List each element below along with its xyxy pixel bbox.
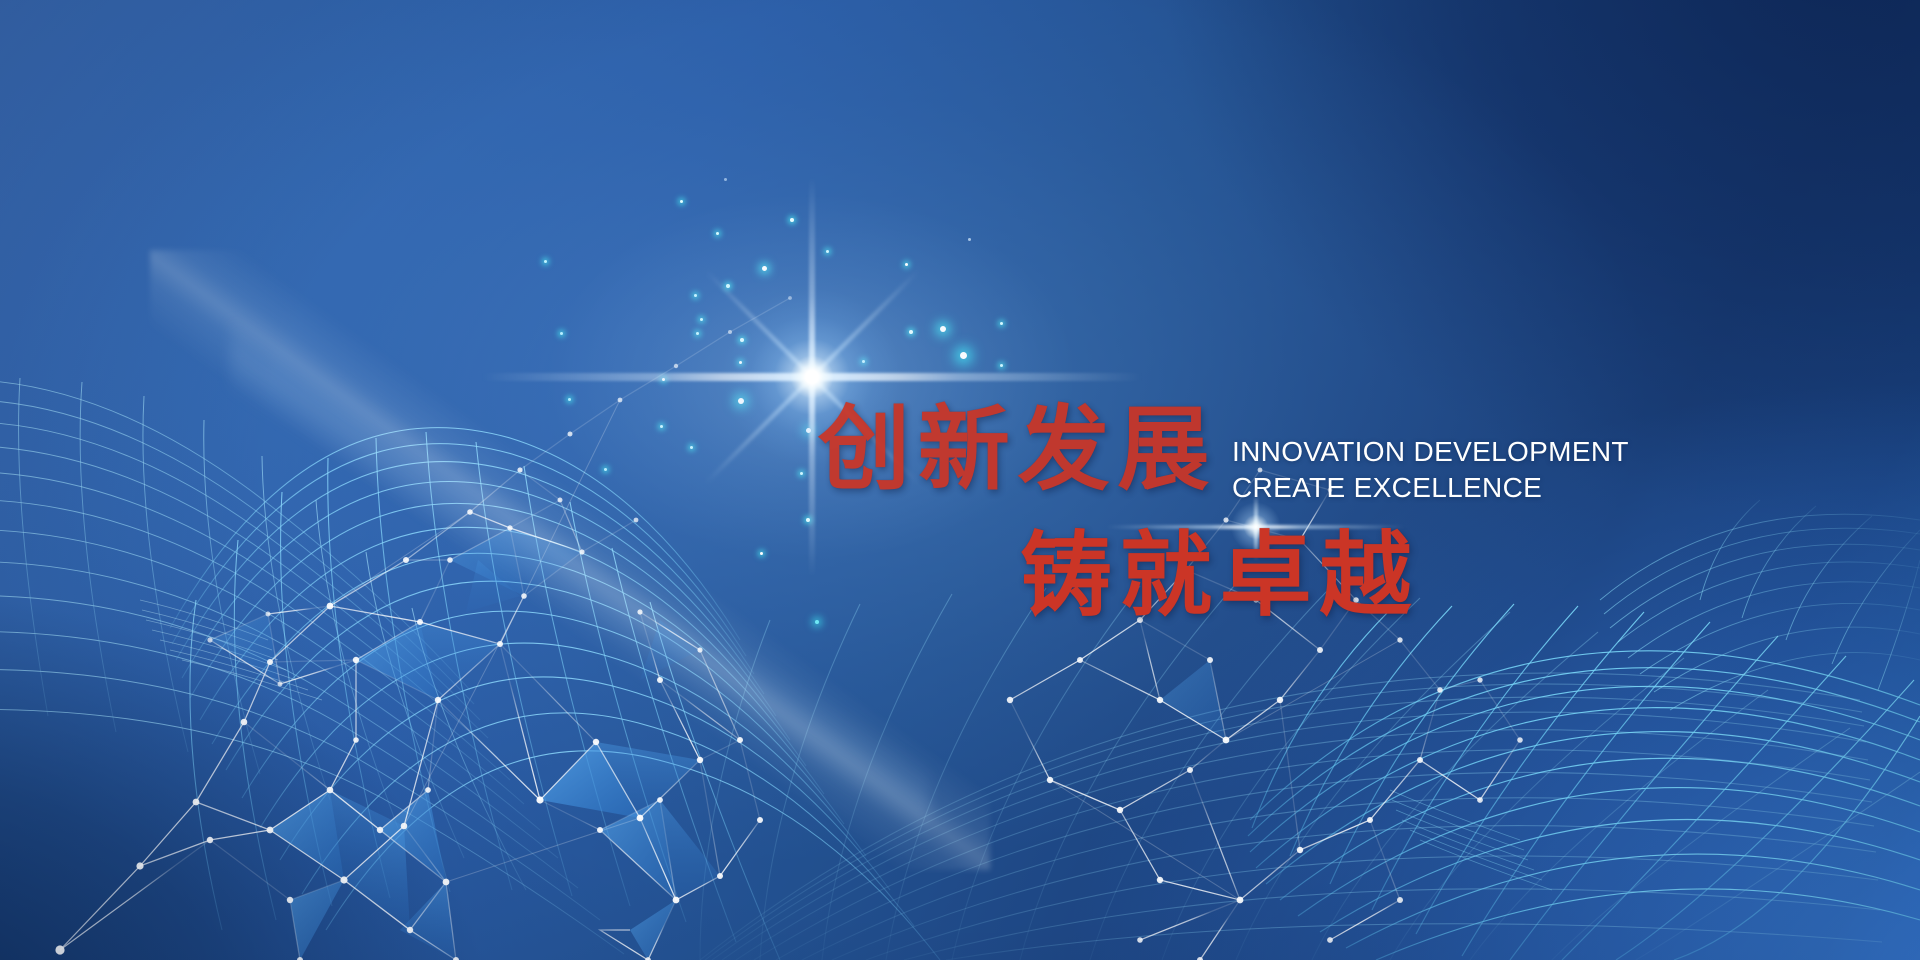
subhead-en-line2: CREATE EXCELLENCE <box>1232 472 1542 504</box>
headline-block: 创新发展 铸就卓越 INNOVATION DEVELOPMENT CREATE … <box>0 0 1920 960</box>
banner-canvas: 创新发展 铸就卓越 INNOVATION DEVELOPMENT CREATE … <box>0 0 1920 960</box>
headline-cn-line2: 铸就卓越 <box>1020 530 1419 622</box>
headline-cn-line1: 创新发展 <box>818 404 1217 496</box>
subhead-en-line1: INNOVATION DEVELOPMENT <box>1232 436 1629 468</box>
